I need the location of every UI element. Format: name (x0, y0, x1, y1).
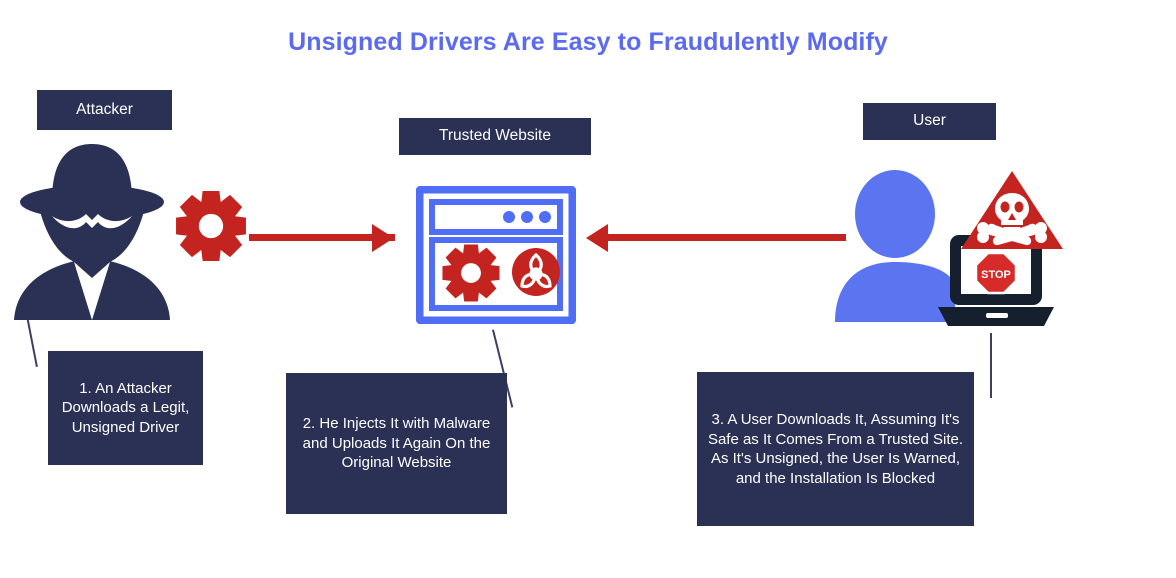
connector-attacker (26, 316, 38, 367)
label-attacker: Attacker (37, 90, 172, 130)
stop-sign-icon: STOP (976, 253, 1016, 293)
skull-warning-triangle-icon (958, 168, 1066, 252)
gear-icon (173, 188, 249, 264)
browser-window-icon (416, 186, 576, 324)
caption-step-3: 3. A User Downloads It, Assuming It's Sa… (697, 372, 974, 526)
label-trusted-website: Trusted Website (399, 118, 591, 155)
window-dots-icon (503, 211, 551, 223)
page-title: Unsigned Drivers Are Easy to Fraudulentl… (0, 28, 1176, 57)
caption-step-1: 1. An Attacker Downloads a Legit, Unsign… (48, 351, 203, 465)
biohazard-icon (512, 248, 560, 296)
connector-user (990, 333, 992, 398)
stop-sign-label: STOP (981, 269, 1011, 281)
spy-hacker-icon (12, 138, 172, 320)
caption-step-2: 2. He Injects It with Malware and Upload… (286, 373, 507, 514)
label-user: User (863, 103, 996, 140)
diagram-canvas: Unsigned Drivers Are Easy to Fraudulentl… (0, 0, 1176, 578)
gear-icon (442, 244, 499, 301)
